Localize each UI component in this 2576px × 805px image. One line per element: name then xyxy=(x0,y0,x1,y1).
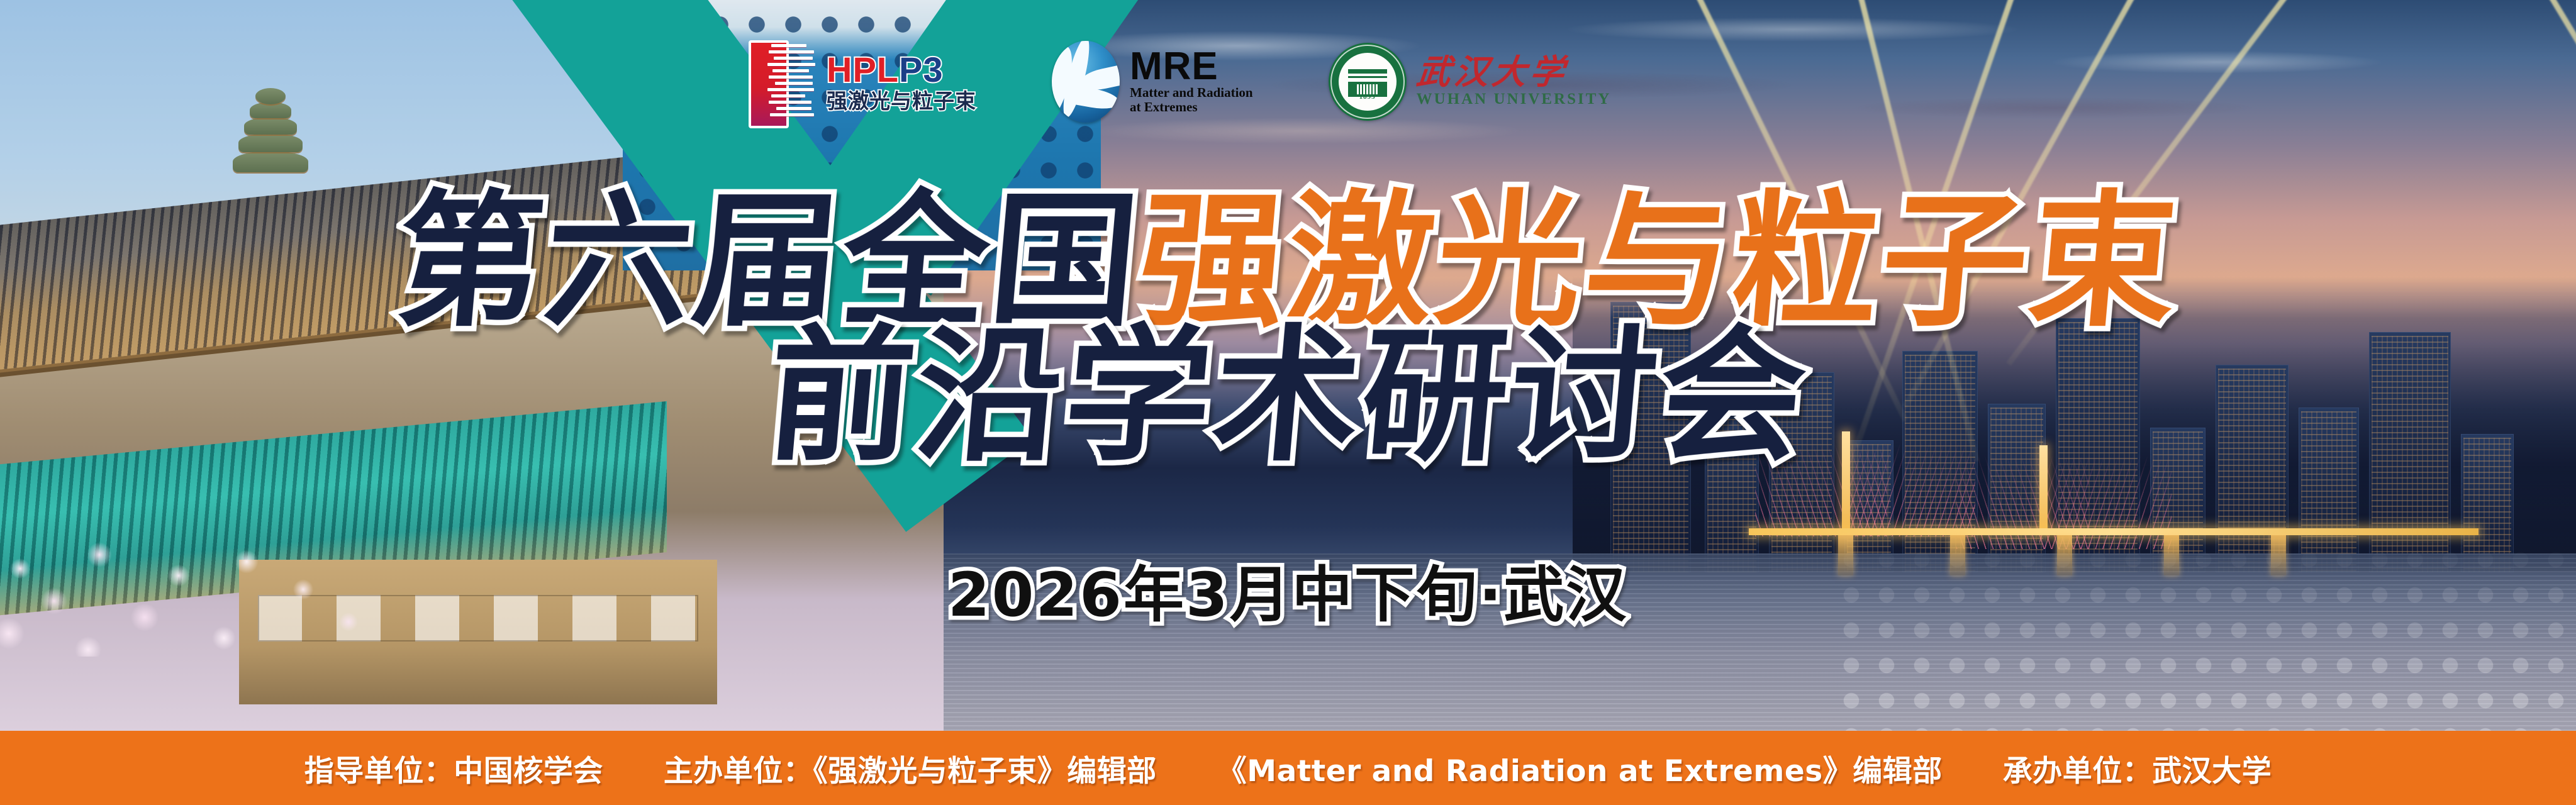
organizer-guidance-unit: 指导单位：中国核学会 xyxy=(304,747,603,790)
hplpb-chinese-name: 强激光与粒子束 xyxy=(827,91,976,111)
logo-mre: MRE Matter and Radiation at Extremes xyxy=(1052,41,1253,123)
whu-chinese-name: 武汉大学 xyxy=(1415,55,1614,89)
hplpb-mark-icon xyxy=(749,40,817,123)
hplpb-acronym-hpl: HPL xyxy=(827,50,899,89)
logo-wuhan-university: 1893 武汉大学 WUHAN UNIVERSITY xyxy=(1329,43,1612,121)
title-line-2: 前沿学术研讨会 xyxy=(0,323,2576,469)
whu-english-name: WUHAN UNIVERSITY xyxy=(1417,91,1612,108)
sponsor-logo-row: HPLP3 强激光与粒子束 MRE Matter and Radiation a… xyxy=(749,31,1611,132)
mre-globe-icon xyxy=(1052,41,1120,123)
hplpb-wordmark: HPLP3 强激光与粒子束 xyxy=(827,52,976,111)
hplpb-acronym: HPLP3 xyxy=(827,52,976,87)
seal-inner: 1893 xyxy=(1339,53,1397,111)
organizer-undertaking-unit: 承办单位：武汉大学 xyxy=(2003,747,2272,790)
conference-banner: HPLP3 强激光与粒子束 MRE Matter and Radiation a… xyxy=(0,0,2576,805)
mre-tagline-line1: Matter and Radiation xyxy=(1130,86,1253,101)
wuhan-university-seal-icon: 1893 xyxy=(1329,43,1407,121)
mre-acronym: MRE xyxy=(1130,48,1253,86)
hplpb-acronym-p3: P3 xyxy=(899,50,944,89)
seal-year: 1893 xyxy=(1339,93,1397,101)
organizer-host-unit-mre: 《Matter and Radiation at Extremes》编辑部 xyxy=(1217,747,1943,790)
organizers-bar: 指导单位：中国核学会 主办单位：《强激光与粒子束》编辑部 《Matter and… xyxy=(0,731,2576,805)
conference-title: 第六届全国强激光与粒子束 前沿学术研讨会 xyxy=(0,189,2576,469)
hplpb-beam-bars xyxy=(767,43,817,121)
organizer-host-unit-hplpb: 主办单位：《强激光与粒子束》编辑部 xyxy=(664,747,1157,790)
event-date-location: 2026年3月中下旬·武汉 xyxy=(0,546,2576,633)
logo-hplpb: HPLP3 强激光与粒子束 xyxy=(749,40,976,123)
mre-wordmark: MRE Matter and Radiation at Extremes xyxy=(1130,48,1253,115)
mre-tagline-line2: at Extremes xyxy=(1130,100,1253,115)
whu-wordmark: 武汉大学 WUHAN UNIVERSITY xyxy=(1417,55,1612,108)
